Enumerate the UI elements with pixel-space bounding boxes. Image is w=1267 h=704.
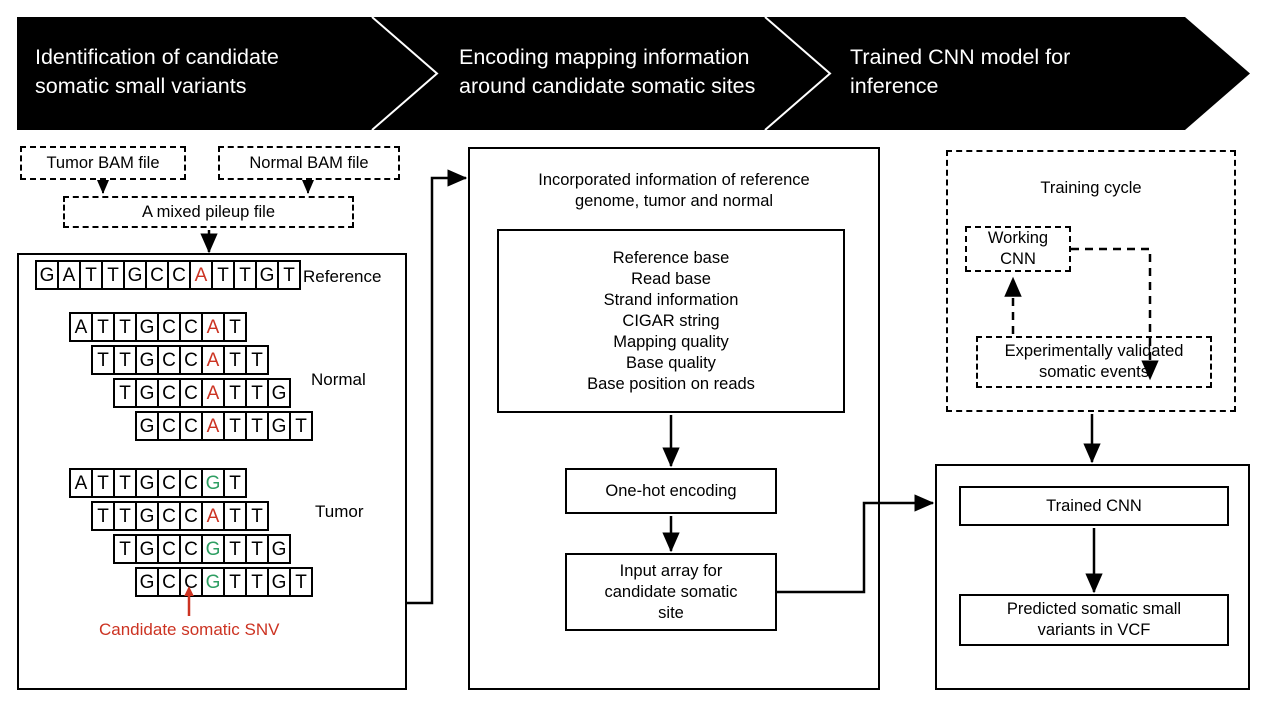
sequence-base-cell: C [157, 345, 181, 375]
sequence-base-cell: T [245, 345, 269, 375]
sequence-base-cell: A [201, 312, 225, 342]
sequence-base-cell: T [223, 345, 247, 375]
normal-read-row: GCCATTGT [135, 411, 313, 441]
sequence-base-cell: A [69, 312, 93, 342]
sequence-base-cell: G [267, 411, 291, 441]
sequence-base-cell: C [157, 378, 181, 408]
sequence-base-cell: C [179, 378, 203, 408]
feature-item: Read base [631, 269, 711, 290]
validated-somatic-events-box[interactable]: Experimentally validated somatic events [976, 336, 1212, 388]
sequence-base-cell: T [223, 501, 247, 531]
reference-group-label: Reference [303, 267, 381, 287]
sequence-base-cell: C [179, 468, 203, 498]
sequence-base-cell: T [79, 260, 103, 290]
incorporated-features-box: Reference baseRead baseStrand informatio… [497, 229, 845, 413]
sequence-base-cell: T [113, 378, 137, 408]
sequence-base-cell: C [157, 501, 181, 531]
working-cnn-box[interactable]: Working CNN [965, 226, 1071, 272]
sequence-base-cell: C [157, 534, 181, 564]
feature-item: Base position on reads [587, 374, 755, 395]
sequence-base-cell: G [267, 567, 291, 597]
sequence-base-cell: G [201, 534, 225, 564]
sequence-base-cell: C [179, 567, 203, 597]
sequence-base-cell: T [91, 345, 115, 375]
sequence-base-cell: G [135, 312, 159, 342]
sequence-base-cell: A [201, 411, 225, 441]
sequence-base-cell: G [123, 260, 147, 290]
normal-group-label: Normal [311, 370, 366, 390]
sequence-base-cell: T [277, 260, 301, 290]
sequence-base-cell: T [113, 534, 137, 564]
sequence-base-cell: C [167, 260, 191, 290]
sequence-base-cell: T [223, 312, 247, 342]
mixed-pileup-file-box[interactable]: A mixed pileup file [63, 196, 354, 228]
feature-item: Reference base [613, 248, 730, 269]
sequence-base-cell: C [179, 345, 203, 375]
reference-sequence-row: GATTGCCATTGT [35, 260, 301, 290]
sequence-base-cell: G [135, 501, 159, 531]
sequence-base-cell: T [223, 411, 247, 441]
sequence-base-cell: G [267, 534, 291, 564]
sequence-base-cell: A [201, 345, 225, 375]
one-hot-encoding-box[interactable]: One-hot encoding [565, 468, 777, 514]
sequence-base-cell: T [289, 411, 313, 441]
sequence-base-cell: T [223, 468, 247, 498]
sequence-base-cell: G [255, 260, 279, 290]
sequence-base-cell: T [223, 567, 247, 597]
banner-stage-3-label: Trained CNN model for inference [850, 43, 1150, 101]
sequence-base-cell: A [201, 378, 225, 408]
sequence-base-cell: T [113, 468, 137, 498]
predicted-variants-box[interactable]: Predicted somatic small variants in VCF [959, 594, 1229, 646]
sequence-base-cell: A [201, 501, 225, 531]
banner-stage-2-label: Encoding mapping information around cand… [459, 43, 789, 101]
tumor-read-row: TTGCCATT [91, 501, 269, 531]
sequence-base-cell: T [101, 260, 125, 290]
sequence-base-cell: T [91, 468, 115, 498]
sequence-base-cell: T [113, 501, 137, 531]
sequence-base-cell: C [179, 411, 203, 441]
pipeline-banner: Identification of candidate somatic smal… [17, 17, 1250, 130]
sequence-base-cell: G [135, 378, 159, 408]
normal-read-row: TTGCCATT [91, 345, 269, 375]
normal-bam-file-box[interactable]: Normal BAM file [218, 146, 400, 180]
sequence-base-cell: G [35, 260, 59, 290]
sequence-base-cell: A [57, 260, 81, 290]
sequence-base-cell: C [179, 501, 203, 531]
tumor-group-label: Tumor [315, 502, 364, 522]
sequence-base-cell: A [189, 260, 213, 290]
sequence-base-cell: T [245, 378, 269, 408]
sequence-base-cell: T [223, 534, 247, 564]
trained-cnn-box[interactable]: Trained CNN [959, 486, 1229, 526]
sequence-base-cell: C [157, 411, 181, 441]
normal-read-row: ATTGCCAT [69, 312, 247, 342]
tumor-read-row: GCCGTTGT [135, 567, 313, 597]
feature-item: CIGAR string [622, 311, 719, 332]
sequence-base-cell: T [91, 501, 115, 531]
sequence-base-cell: G [135, 534, 159, 564]
sequence-base-cell: T [245, 411, 269, 441]
input-array-box[interactable]: Input array for candidate somatic site [565, 553, 777, 631]
sequence-base-cell: T [113, 345, 137, 375]
feature-item: Strand information [604, 290, 739, 311]
left-to-middle-connector [407, 178, 466, 603]
sequence-base-cell: T [245, 501, 269, 531]
sequence-base-cell: G [135, 468, 159, 498]
normal-read-row: TGCCATTG [113, 378, 291, 408]
sequence-base-cell: T [289, 567, 313, 597]
feature-item: Mapping quality [613, 332, 729, 353]
feature-item: Base quality [626, 353, 716, 374]
diagram-canvas: Identification of candidate somatic smal… [0, 0, 1267, 704]
banner-stage-1-label: Identification of candidate somatic smal… [35, 43, 345, 101]
sequence-base-cell: C [157, 468, 181, 498]
sequence-base-cell: C [157, 567, 181, 597]
tumor-read-row: TGCCGTTG [113, 534, 291, 564]
sequence-base-cell: C [157, 312, 181, 342]
sequence-base-cell: T [223, 378, 247, 408]
training-cycle-title: Training cycle [946, 178, 1236, 199]
sequence-base-cell: G [135, 411, 159, 441]
candidate-somatic-snv-label: Candidate somatic SNV [99, 620, 279, 640]
sequence-base-cell: T [245, 534, 269, 564]
sequence-base-cell: T [91, 312, 115, 342]
tumor-read-row: ATTGCCGT [69, 468, 247, 498]
tumor-bam-file-box[interactable]: Tumor BAM file [20, 146, 186, 180]
sequence-base-cell: C [179, 312, 203, 342]
sequence-base-cell: G [135, 567, 159, 597]
sequence-base-cell: G [201, 468, 225, 498]
sequence-base-cell: A [69, 468, 93, 498]
sequence-base-cell: T [211, 260, 235, 290]
sequence-base-cell: G [135, 345, 159, 375]
sequence-base-cell: C [145, 260, 169, 290]
sequence-base-cell: T [245, 567, 269, 597]
sequence-base-cell: T [233, 260, 257, 290]
sequence-base-cell: T [113, 312, 137, 342]
sequence-base-cell: G [267, 378, 291, 408]
sequence-base-cell: G [201, 567, 225, 597]
sequence-base-cell: C [179, 534, 203, 564]
middle-panel-heading: Incorporated information of reference ge… [492, 170, 856, 212]
